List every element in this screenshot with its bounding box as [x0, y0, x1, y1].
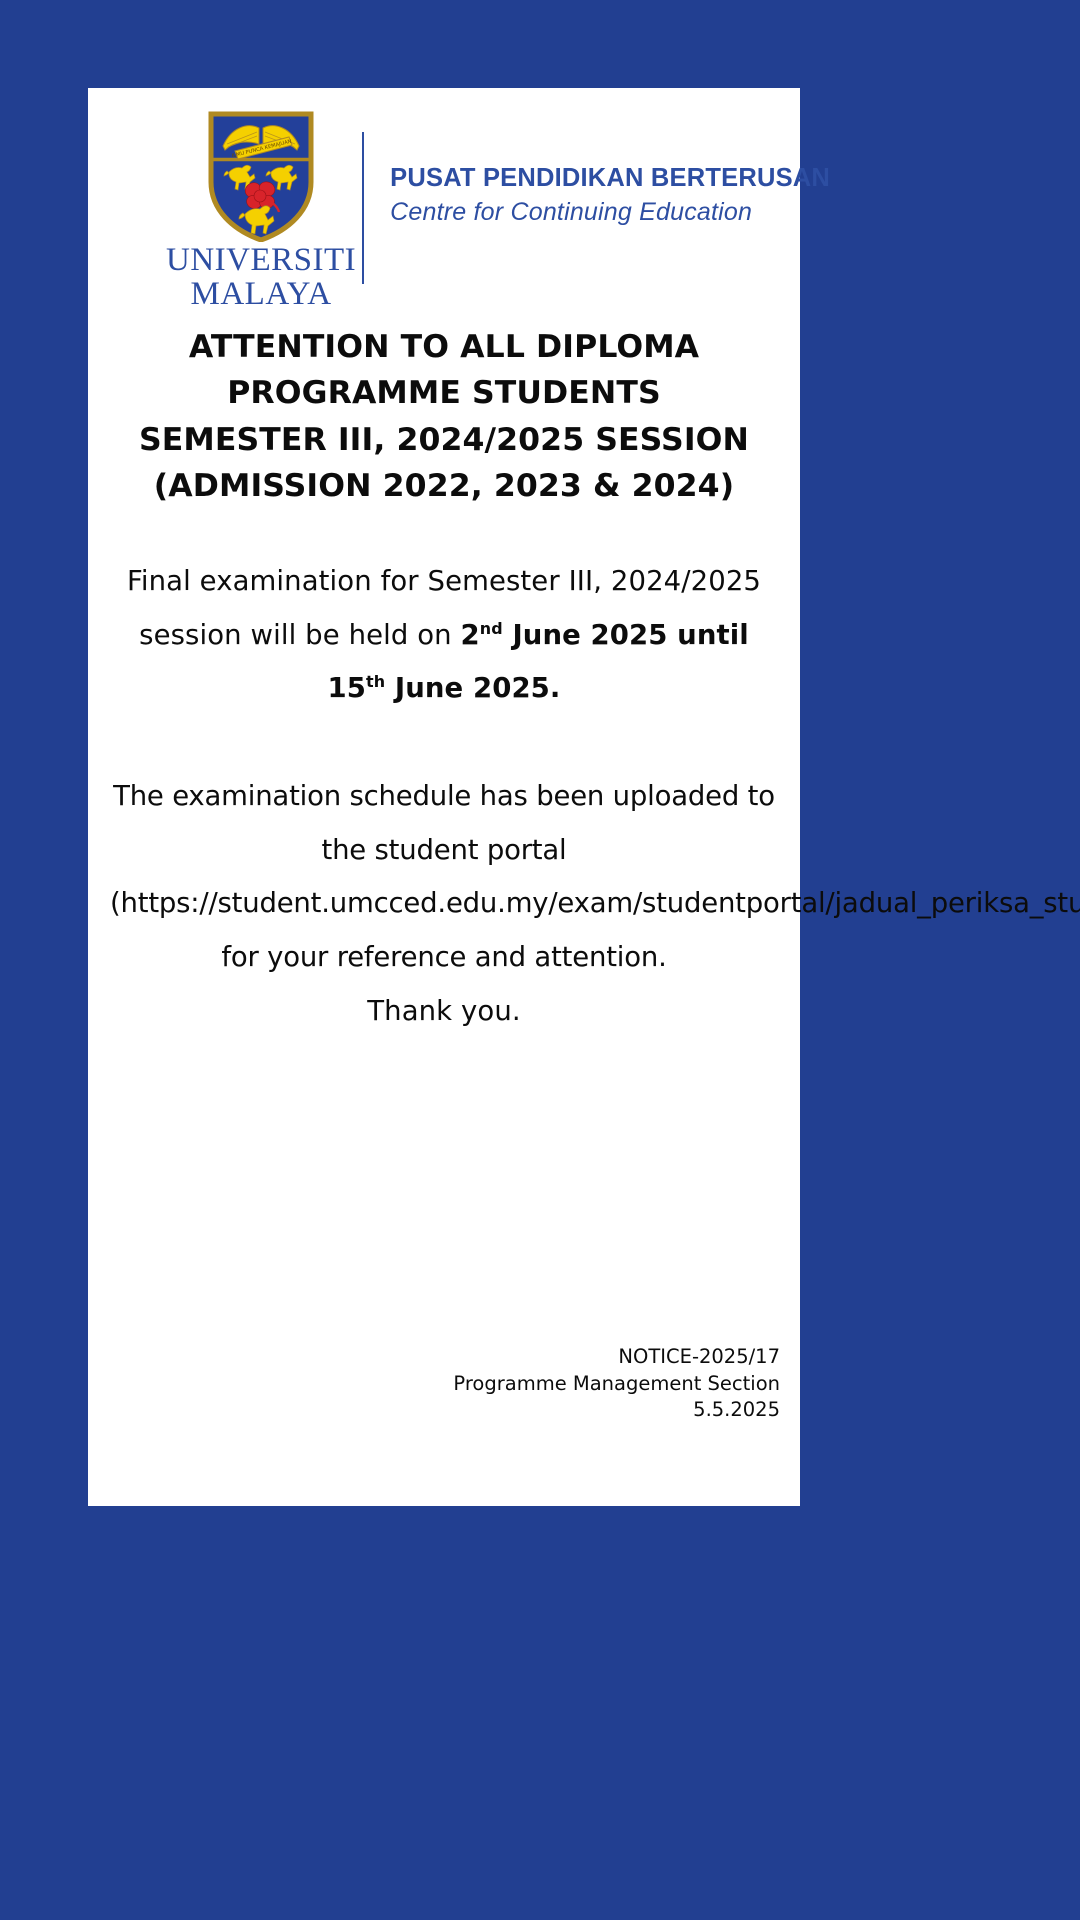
organisation-names: PUSAT PENDIDIKAN BERTERUSAN Centre for C… — [390, 110, 830, 227]
notice-footer: NOTICE-2025/17 Programme Management Sect… — [453, 1344, 780, 1424]
university-logo-lockup: ILMU PUNCA KEMAJUAN — [166, 110, 356, 311]
exam-start-day: 2 — [461, 619, 480, 651]
wordmark-line-malaya: MALAYA — [166, 278, 356, 312]
logo-divider — [362, 132, 364, 284]
notice-poster: ILMU PUNCA KEMAJUAN — [88, 88, 800, 1506]
headline-line-3: SEMESTER III, 2024/2025 SESSION — [126, 417, 762, 463]
notice-body: Final examination for Semester III, 2024… — [88, 555, 800, 1038]
notice-date: 5.5.2025 — [453, 1397, 780, 1424]
wordmark-line-universiti: UNIVERSITI — [166, 244, 356, 278]
exam-end-ordinal: th — [366, 672, 385, 691]
headline-line-1: ATTENTION TO ALL DIPLOMA — [126, 324, 762, 370]
body-paragraph-portal: The examination schedule has been upload… — [110, 770, 778, 985]
org-name-malay: PUSAT PENDIDIKAN BERTERUSAN — [390, 164, 830, 193]
headline-line-4: (ADMISSION 2022, 2023 & 2024) — [126, 463, 762, 509]
notice-headline: ATTENTION TO ALL DIPLOMA PROGRAMME STUDE… — [88, 324, 800, 509]
um-crest-icon: ILMU PUNCA KEMAJUAN — [205, 110, 317, 242]
body-paragraph-exam-dates: Final examination for Semester III, 2024… — [110, 555, 778, 716]
poster-header: ILMU PUNCA KEMAJUAN — [88, 88, 800, 298]
headline-line-2: PROGRAMME STUDENTS — [126, 370, 762, 416]
notice-reference-number: NOTICE-2025/17 — [453, 1344, 780, 1371]
exam-start-ordinal: nd — [480, 619, 503, 638]
student-portal-url[interactable]: https://student.umcced.edu.my/exam/stude… — [121, 887, 1080, 919]
org-name-english: Centre for Continuing Education — [390, 198, 830, 227]
paragraph-spacer — [110, 716, 778, 770]
issuing-department: Programme Management Section — [453, 1371, 780, 1398]
exam-date-tail: June 2025. — [385, 672, 560, 704]
university-wordmark: UNIVERSITI MALAYA — [166, 244, 356, 311]
thank-you-line: Thank you. — [110, 985, 778, 1039]
